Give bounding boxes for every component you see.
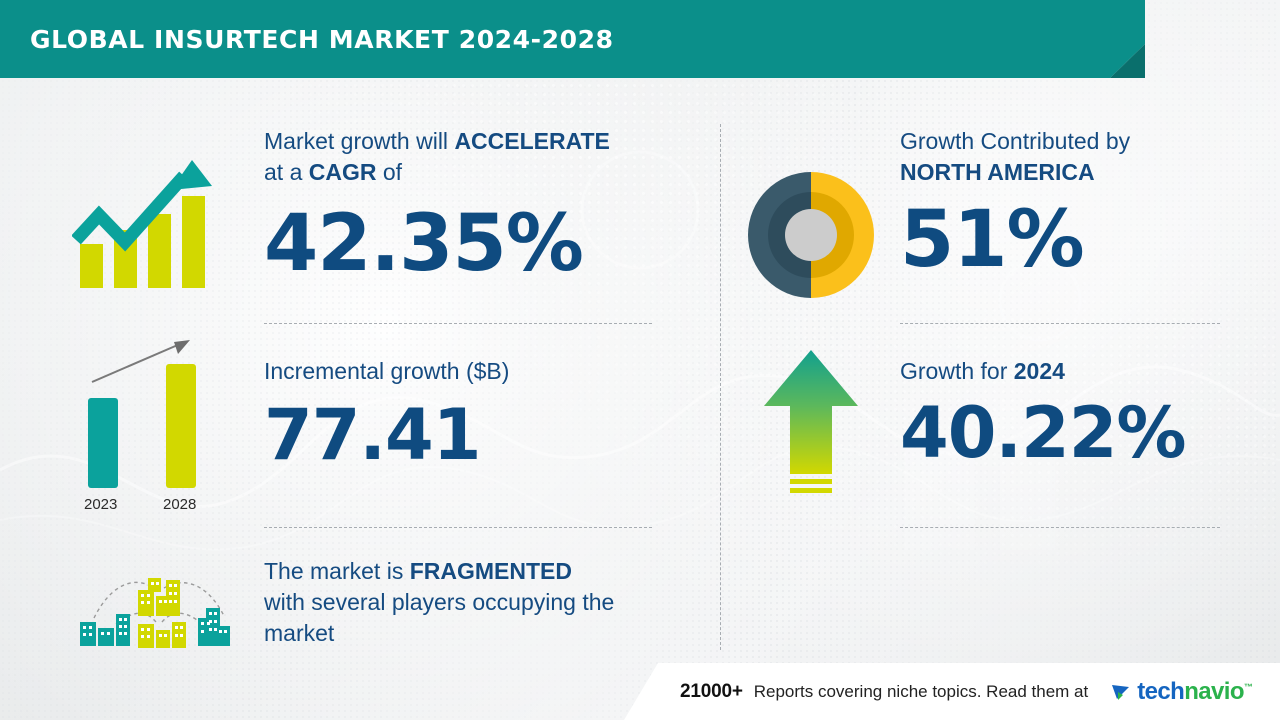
right-divider-bottom (900, 527, 1220, 528)
donut-chart-icon (744, 168, 878, 302)
report-count: 21000+ (680, 681, 743, 703)
fragmentation-line1-prefix: The market is (264, 558, 410, 584)
incremental-growth-value: 77.41 (264, 397, 664, 473)
cagr-caption: Market growth will ACCELERATE at a CAGR … (264, 126, 664, 188)
region-caption-line1: Growth Contributed by (900, 128, 1130, 154)
bar-label-2028: 2028 (163, 496, 196, 513)
city-network-icon (72, 566, 244, 652)
bar-label-2023: 2023 (84, 496, 117, 513)
cagr-block: Market growth will ACCELERATE at a CAGR … (264, 126, 664, 286)
technavio-logo[interactable]: technavio™ (1110, 678, 1252, 706)
cagr-caption-line1-prefix: Market growth will (264, 128, 454, 154)
comparison-bars-icon (66, 332, 236, 518)
logo-text-navio: navio (1184, 678, 1244, 705)
region-caption-name: NORTH AMERICA (900, 159, 1095, 185)
cagr-caption-accelerate: ACCELERATE (454, 128, 609, 154)
year-growth-value: 40.22% (900, 395, 1240, 471)
column-divider (720, 124, 721, 650)
cagr-caption-line2-prefix: at a (264, 159, 309, 185)
cagr-caption-line2-suffix: of (377, 159, 403, 185)
cagr-caption-cagr: CAGR (309, 159, 377, 185)
fragmentation-text: The market is FRAGMENTED with several pl… (264, 556, 684, 649)
right-divider-top (900, 323, 1220, 324)
fragmentation-block: The market is FRAGMENTED with several pl… (264, 556, 684, 649)
left-divider-bottom (264, 527, 652, 528)
fragmentation-line3: market (264, 620, 334, 646)
technavio-wordmark: technavio™ (1137, 678, 1252, 706)
incremental-growth-label: Incremental growth ($B) (264, 356, 664, 387)
page-title: GLOBAL INSURTECH MARKET 2024-2028 (30, 0, 614, 78)
region-value: 51% (900, 198, 1230, 282)
footer-bar: 21000+ Reports covering niche topics. Re… (624, 663, 1280, 720)
year-growth-block: Growth for 2024 40.22% (900, 356, 1240, 471)
fragmentation-keyword: FRAGMENTED (410, 558, 572, 584)
fragmentation-line2: with several players occupying the (264, 589, 614, 615)
cagr-value: 42.35% (264, 202, 664, 286)
region-caption: Growth Contributed by NORTH AMERICA (900, 126, 1230, 188)
logo-trademark: ™ (1244, 682, 1252, 692)
year-growth-label-prefix: Growth for (900, 358, 1014, 384)
year-growth-label: Growth for 2024 (900, 356, 1240, 387)
growth-chart-icon (72, 152, 222, 292)
technavio-mark-icon (1110, 680, 1134, 704)
year-growth-year: 2024 (1014, 358, 1065, 384)
incremental-growth-block: Incremental growth ($B) 77.41 (264, 356, 664, 473)
up-arrow-icon (762, 348, 860, 500)
logo-text-tech: tech (1137, 678, 1184, 705)
footer-tagline: Reports covering niche topics. Read them… (754, 682, 1089, 702)
left-divider-top (264, 323, 652, 324)
infographic-page: GLOBAL INSURTECH MARKET 2024-2028 2023 2… (0, 0, 1280, 720)
footer-content: 21000+ Reports covering niche topics. Re… (624, 663, 1280, 720)
region-contribution-block: Growth Contributed by NORTH AMERICA 51% (900, 126, 1230, 282)
